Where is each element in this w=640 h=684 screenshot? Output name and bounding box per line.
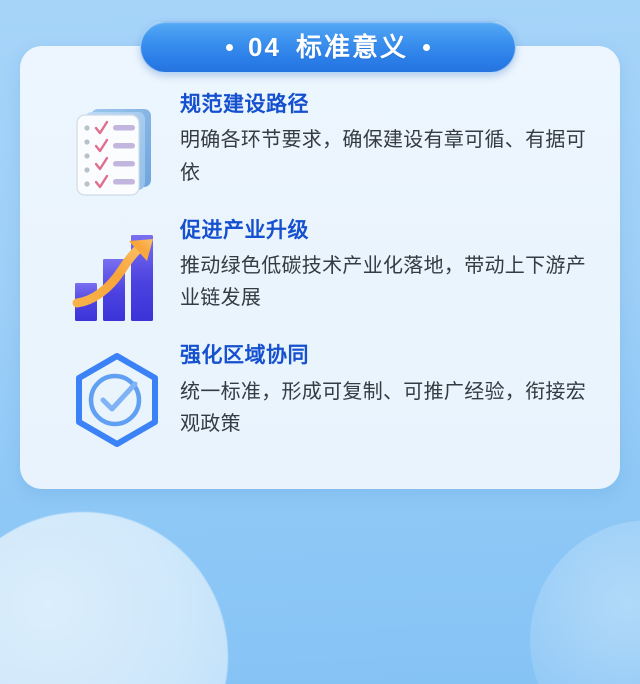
section-body-2: 推动绿色低碳技术产业化落地，带动上下游产业链发展: [180, 250, 598, 315]
sections-list: 规范建设路径 明确各环节要求，确保建设有章可循、有据可依: [20, 46, 620, 489]
section-body-3: 统一标准，形成可复制、可推广经验，衔接宏观政策: [180, 376, 598, 441]
hexagon-check-circle-icon: [54, 341, 180, 459]
decorative-circle-right: [530, 520, 640, 684]
checklist-clipboard-icon: [54, 90, 180, 208]
section-badge: 04 标准意义: [140, 21, 516, 73]
section-item-1: 规范建设路径 明确各环节要求，确保建设有章可循、有据可依: [54, 90, 598, 216]
section-title-3: 强化区域协同: [180, 343, 598, 369]
section-text-3: 强化区域协同 统一标准，形成可复制、可推广经验，衔接宏观政策: [180, 341, 598, 440]
badge-number: 04: [248, 34, 281, 60]
bar-chart-growth-arrow-icon: [54, 216, 180, 334]
section-body-1: 明确各环节要求，确保建设有章可循、有据可依: [180, 124, 598, 189]
section-title-2: 促进产业升级: [180, 218, 598, 244]
decorative-circle-bottom-left: [0, 512, 228, 684]
section-item-3: 强化区域协同 统一标准，形成可复制、可推广经验，衔接宏观政策: [54, 341, 598, 467]
section-title-1: 规范建设路径: [180, 92, 598, 118]
section-text-1: 规范建设路径 明确各环节要求，确保建设有章可循、有据可依: [180, 90, 598, 189]
badge-left-dot-icon: [226, 44, 233, 51]
section-text-2: 促进产业升级 推动绿色低碳技术产业化落地，带动上下游产业链发展: [180, 216, 598, 315]
badge-title: 标准意义: [296, 34, 408, 60]
badge-right-dot-icon: [423, 44, 430, 51]
section-item-2: 促进产业升级 推动绿色低碳技术产业化落地，带动上下游产业链发展: [54, 216, 598, 342]
